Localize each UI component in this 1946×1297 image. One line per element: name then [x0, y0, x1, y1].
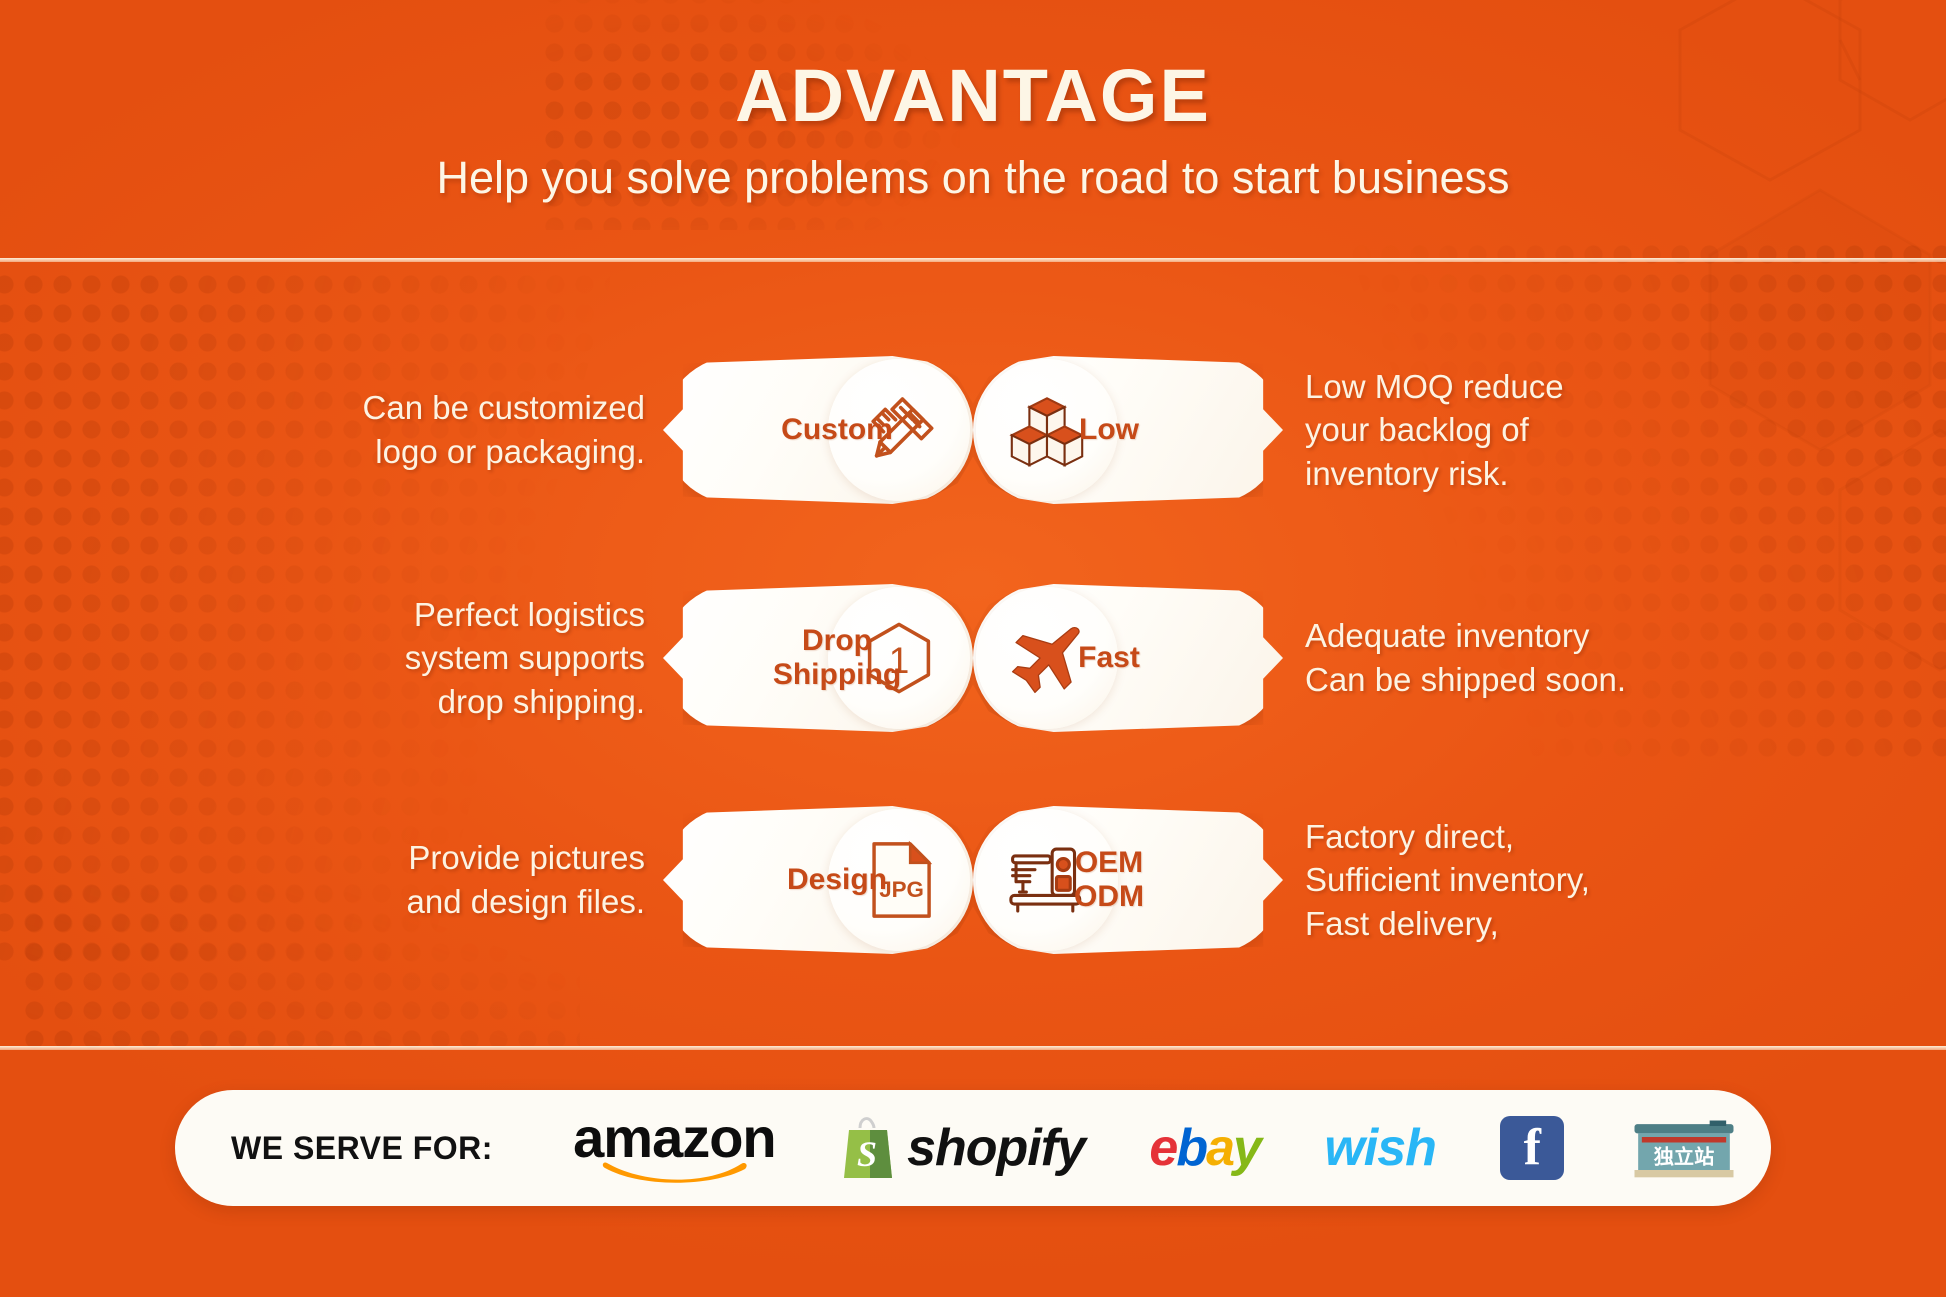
feature-design: Provide pictures and design files. Desig…	[0, 800, 973, 960]
store-chinese-label: 独立站	[1654, 1145, 1714, 1169]
amazon-smile-icon	[599, 1157, 749, 1183]
badge-fast[interactable]: Fast	[973, 584, 1283, 732]
partner-bar: WE SERVE FOR: amazon S shopify	[175, 1090, 1771, 1206]
feature-description: Low MOQ reduce your backlog of inventory…	[1305, 365, 1705, 496]
badge-label: Fast	[973, 641, 1245, 675]
feature-description: Perfect logistics system supports drop s…	[245, 593, 645, 724]
independent-store-icon: 独立站	[1629, 1111, 1739, 1185]
page-title: ADVANTAGE	[735, 59, 1211, 133]
feature-fast: Fast Adequate inventory Can be shipped s…	[973, 578, 1946, 738]
partner-logo-list: amazon S shopify e b a y	[541, 1111, 1771, 1185]
page-subtitle: Help you solve problems on the road to s…	[436, 153, 1509, 203]
badge-design[interactable]: Design JPG	[663, 806, 973, 954]
feature-grid: Can be customized logo or packaging. Cus…	[0, 300, 1946, 1040]
amazon-wordmark: amazon	[573, 1113, 776, 1163]
badge-label: Design	[701, 863, 973, 897]
we-serve-for-label: WE SERVE FOR:	[231, 1130, 493, 1167]
badge-custom[interactable]: Custom	[663, 356, 973, 504]
feature-custom: Can be customized logo or packaging. Cus…	[0, 350, 973, 510]
badge-low[interactable]: Low	[973, 356, 1283, 504]
badge-label: Custom	[701, 413, 973, 447]
feature-description: Provide pictures and design files.	[245, 836, 645, 923]
ebay-letter-e: e	[1149, 1118, 1176, 1178]
amazon-logo[interactable]: amazon	[573, 1113, 776, 1183]
feature-low-moq: Low Low MOQ reduce your backlog of inven…	[973, 350, 1946, 510]
feature-description: Adequate inventory Can be shipped soon.	[1305, 614, 1705, 701]
facebook-logo[interactable]: f	[1500, 1116, 1564, 1180]
shopify-wordmark: shopify	[907, 1118, 1085, 1178]
ebay-letter-b: b	[1176, 1118, 1206, 1178]
feature-description: Factory direct, Sufficient inventory, Fa…	[1305, 815, 1705, 946]
feature-description: Can be customized logo or packaging.	[245, 386, 645, 473]
badge-label: OEM ODM	[973, 846, 1245, 913]
badge-drop-shipping[interactable]: Drop Shipping 1	[663, 584, 973, 732]
ebay-letter-a: a	[1206, 1118, 1233, 1178]
shopify-bag-icon: S	[840, 1114, 898, 1182]
advantage-infographic: ADVANTAGE Help you solve problems on the…	[0, 0, 1946, 1297]
feature-oem-odm: OEM ODM Factory direct, Sufficient inven…	[973, 800, 1946, 960]
ebay-logo[interactable]: e b a y	[1149, 1118, 1260, 1178]
facebook-f-icon: f	[1500, 1116, 1564, 1180]
wish-logo[interactable]: wish	[1324, 1118, 1436, 1178]
svg-text:S: S	[857, 1134, 877, 1174]
divider-bottom	[0, 1046, 1946, 1050]
feature-drop-shipping: Perfect logistics system supports drop s…	[0, 578, 973, 738]
feature-row-3: Provide pictures and design files. Desig…	[0, 800, 1946, 960]
badge-oem-odm[interactable]: OEM ODM	[973, 806, 1283, 954]
badge-label: Drop Shipping	[701, 624, 973, 691]
wish-wordmark: wish	[1324, 1118, 1436, 1178]
divider-top	[0, 258, 1946, 262]
feature-row-1: Can be customized logo or packaging. Cus…	[0, 350, 1946, 510]
feature-row-2: Perfect logistics system supports drop s…	[0, 578, 1946, 738]
badge-label: Low	[973, 413, 1245, 447]
ebay-letter-y: y	[1233, 1118, 1260, 1178]
shopify-logo[interactable]: S shopify	[840, 1114, 1085, 1182]
storefront-logo[interactable]: 独立站	[1629, 1111, 1739, 1185]
header: ADVANTAGE Help you solve problems on the…	[0, 0, 1946, 262]
